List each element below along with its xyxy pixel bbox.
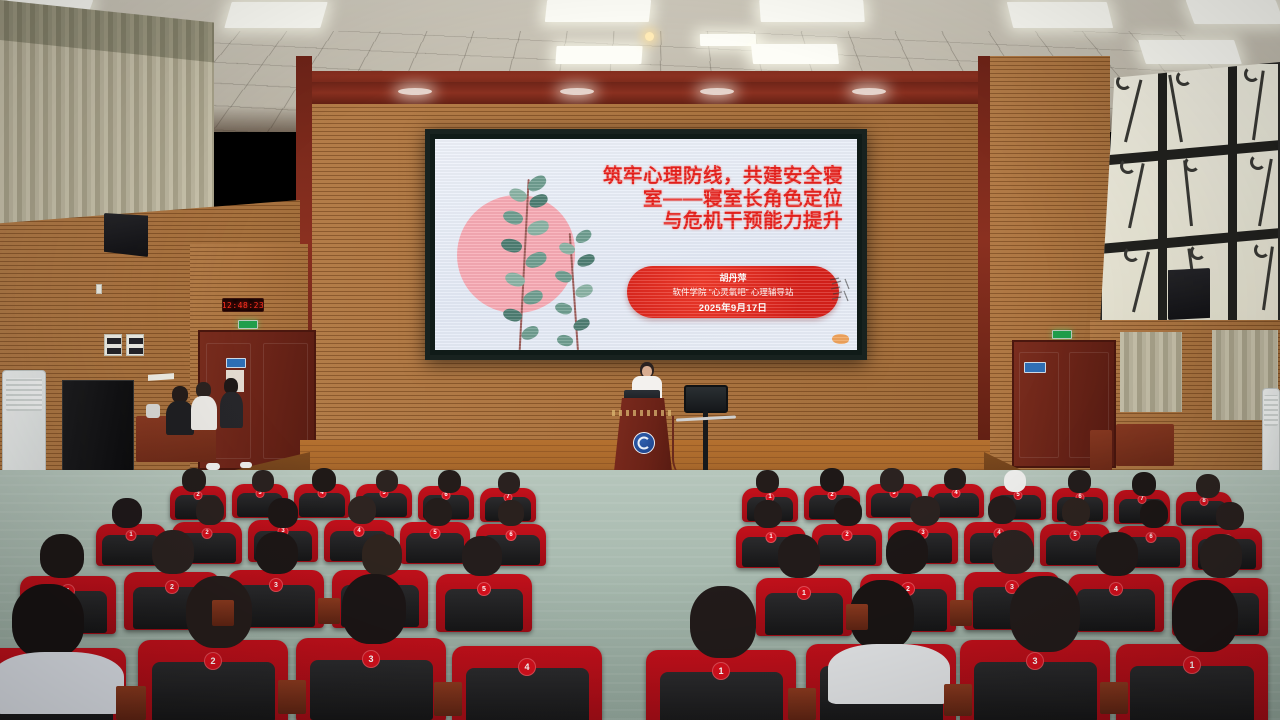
right-side-chair [1090,430,1112,474]
window-grille-hook-icon [1244,66,1260,82]
seat-number-badge: 8 [1200,497,1209,506]
right-side-table [1116,424,1174,466]
head [886,530,928,574]
seat-cushion [152,662,275,720]
seat[interactable]: 5 [436,574,532,632]
slide-calligraphy-mark [827,275,853,309]
shoulders [166,401,194,435]
seat-cushion [974,662,1097,720]
seat-number-badge: 4 [1109,582,1123,596]
seat-number-badge: 2 [165,580,179,594]
plant-leaf [554,300,574,317]
slide-title-line-1: 筑牢心理防线，共建安全寝 [569,165,843,188]
head [362,534,402,576]
head [944,468,966,490]
ceiling-panel-light [1007,2,1113,28]
slide-title-line-3: 与危机干预能力提升 [569,210,843,233]
head [376,470,398,492]
ceiling-panel-light [751,44,839,64]
head [1200,534,1242,578]
head [1010,576,1080,652]
right-door-plate [1024,362,1046,373]
head [834,498,862,526]
university-crest-icon [633,432,655,454]
seat-armrest [788,688,816,720]
head [256,532,298,574]
slide-speaker-badge: 胡丹萍 软件学院 “心灵氧吧” 心理辅导站 2025年9月17日 [627,266,839,318]
seat[interactable]: 5 [400,522,470,564]
outlet-slot [129,338,143,344]
presentation-slide: 筑牢心理防线，共建安全寝 室——寝室长角色定位 与危机干预能力提升 胡丹萍 软件… [435,139,857,350]
exit-sign-left [238,320,258,329]
plant-leaf [519,324,540,341]
seat-number-badge: 6 [506,530,517,541]
seat-cushion [1130,666,1255,720]
slide-title-line-2: 室——寝室长角色定位 [569,188,843,211]
window-grille-hook-icon [1184,156,1200,172]
confidence-monitor [684,385,728,413]
shoulders [828,644,950,704]
projection-screen: 筑牢心理防线，共建安全寝 室——寝室长角色定位 与危机干预能力提升 胡丹萍 软件… [425,129,867,360]
seat-number-badge: 2 [204,652,222,670]
window-grille-hook-icon [1120,158,1136,174]
seat[interactable]: 3 [960,640,1110,720]
ceiling-panel-light [555,46,642,64]
seat-armrest [278,680,306,714]
slide-speaker-name: 胡丹萍 [637,271,829,284]
head [268,498,298,528]
ceiling-downlight [645,32,654,41]
head [1196,474,1220,498]
head [152,530,194,574]
beam-spot-reflection [560,88,594,95]
seat-number-badge: 1 [1183,656,1201,674]
plant-leaf [501,207,525,227]
head [348,496,376,524]
outlet-slot [107,348,121,354]
white-shoe [206,463,220,470]
head [988,496,1016,524]
seat-number-badge: 2 [202,528,213,539]
head [1068,470,1091,493]
window-grille-hook-icon [1254,242,1270,258]
head [1062,498,1090,526]
slide-plant-illustration-small [553,227,613,350]
head [342,574,406,644]
head [112,498,142,528]
seat-number-badge: 5 [430,528,441,539]
head [498,500,524,526]
seat-number-badge: 2 [842,530,853,541]
window-grille-hook-icon [1190,244,1206,260]
white-shoe [240,462,252,468]
podium-lettering [612,410,674,416]
slide-leaf-mark [832,334,849,344]
window-mullion [1228,64,1237,322]
beam-spot-reflection [700,88,734,95]
left-wall-panel [104,334,122,356]
ceiling-panel-light [545,0,651,22]
head [182,468,206,492]
shoulders [220,392,243,428]
seat-number-badge: 3 [269,578,283,592]
window-mullion [1158,64,1167,322]
plant-leaf [557,240,576,257]
seat[interactable]: 1 [646,650,796,720]
seat-armrest [434,682,462,716]
seat-armrest [950,600,972,626]
beam-spot-reflection [398,88,432,95]
seat[interactable]: 1 [756,578,852,636]
seat-armrest [1100,682,1128,714]
slide-title: 筑牢心理防线，共建安全寝 室——寝室长角色定位 与危机干预能力提升 [569,165,843,233]
seat-number-badge: 6 [1146,532,1157,543]
left-wall-speaker [104,213,148,257]
seat-number-badge: 5 [1070,530,1081,541]
head [1132,472,1156,496]
plant-leaf [528,193,550,210]
head [910,496,940,526]
head [462,536,502,576]
head [252,470,274,492]
seat-armrest [318,598,340,624]
seat-number-badge: 2 [828,491,837,500]
head [1004,470,1026,492]
shoulders [191,396,217,430]
seat[interactable]: 3 [296,638,446,720]
head [1096,532,1138,576]
ceiling-panel-light [1186,0,1280,24]
plant-leaf [523,250,548,270]
head [424,498,452,526]
outlet-slot [129,348,143,354]
plant-leaf [574,283,594,299]
plant-leaf [499,236,523,255]
seat-cushion [310,660,433,720]
window-grille-hook-icon [1124,246,1140,262]
right-wall-speaker [1168,268,1210,320]
seat-number-badge: 4 [354,526,365,537]
head [778,534,820,578]
beam-spot-reflection [852,88,886,95]
auditorium-scene: 12:48:23 [0,0,1280,720]
seat-armrest [846,604,868,630]
led-clock-value: 12:48:23 [222,301,264,310]
head [1216,502,1244,530]
seat-number-badge: 3 [1026,652,1044,670]
head [312,468,336,492]
seat[interactable]: 2 [812,524,882,566]
head [754,500,782,528]
plant-leaf [522,289,545,306]
outlet-slot [107,338,121,344]
head [756,470,779,493]
head [498,472,520,494]
head [820,468,844,492]
seat-number-badge: 4 [952,489,961,498]
seat[interactable]: 4 [452,646,602,720]
seat-number-badge: 1 [712,662,730,680]
head [40,534,84,578]
seat-number-badge: 4 [518,658,536,676]
head [992,530,1034,574]
ceiling-panel-light [224,2,327,28]
seat[interactable]: 2 [138,640,288,720]
head [12,584,84,658]
window-grille-hook-icon [1176,70,1192,86]
ceiling-panel-light [700,34,756,46]
ceiling-panel-light [759,0,865,22]
left-ac-unit [2,370,46,482]
ceiling-panel-light [1138,40,1242,64]
slide-organization: 软件学院 “心灵氧吧” 心理辅导站 [637,286,829,298]
desk-kettle [146,404,160,418]
seat-number-badge: 3 [362,650,380,668]
right-window-curtain [1120,332,1182,412]
seat-number-badge: 5 [1014,491,1023,500]
seat[interactable]: 1 [1116,644,1268,720]
left-wall-outlet [96,284,102,294]
left-door-plate [226,358,246,368]
plant-leaf [556,333,575,349]
led-clock: 12:48:23 [222,298,264,312]
head [438,470,461,493]
plant-leaf [526,219,550,237]
exit-sign-right [1052,330,1072,339]
head [880,468,904,492]
head [1140,500,1168,528]
seat-armrest [212,600,234,626]
seat-armrest [944,684,972,716]
left-wall-panel [126,334,144,356]
shoulders [0,652,124,714]
slide-date: 2025年9月17日 [637,300,829,314]
seat-number-badge: 1 [766,532,777,543]
window-grille-hook-icon [1250,154,1266,170]
head [196,496,224,525]
plant-leaf [576,253,596,269]
seat-number-badge: 1 [797,586,811,600]
seat-armrest [116,686,146,720]
seat[interactable]: 4 [1068,574,1164,632]
seat-number-badge: 1 [126,530,137,541]
seat-number-badge: 5 [477,582,491,596]
head [690,586,756,658]
head [1172,580,1238,652]
